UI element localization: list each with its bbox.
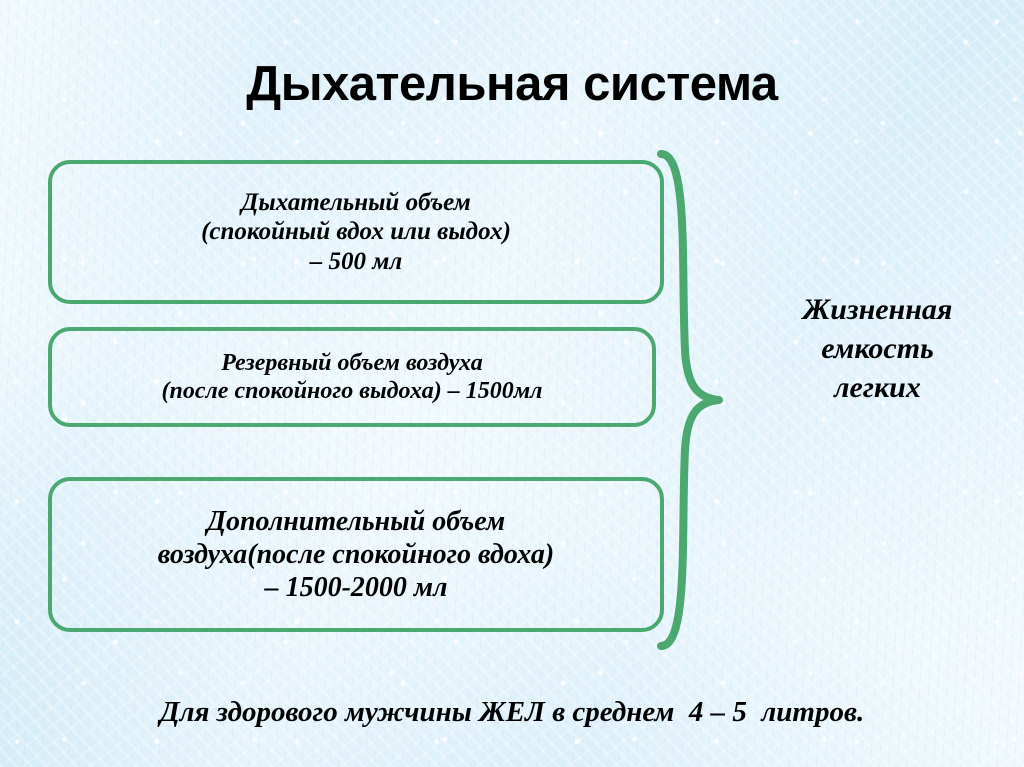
tidal-volume-box: Дыхательный объем (спокойный вдох или вы… — [48, 160, 664, 304]
additional-volume-line-1: Дополнительный объем — [158, 505, 555, 538]
additional-volume-box: Дополнительный объем воздуха(после споко… — [48, 477, 664, 632]
additional-volume-line-3: – 1500-2000 мл — [158, 571, 555, 604]
curly-brace-icon — [655, 150, 725, 650]
tidal-volume-text: Дыхательный объем (спокойный вдох или вы… — [201, 188, 511, 277]
tidal-volume-line-3: – 500 мл — [201, 247, 511, 277]
vital-capacity-line-2: емкость — [745, 329, 1010, 368]
slide-background: Дыхательная система Дыхательный объем (с… — [0, 0, 1024, 767]
additional-volume-text: Дополнительный объем воздуха(после споко… — [158, 505, 555, 604]
reserve-volume-line-1: Резервный объем воздуха — [162, 349, 543, 377]
slide-content: Дыхательная система Дыхательный объем (с… — [0, 0, 1024, 767]
tidal-volume-line-1: Дыхательный объем — [201, 188, 511, 218]
footer-note: Для здорового мужчины ЖЕЛ в среднем 4 – … — [0, 696, 1024, 729]
reserve-volume-text: Резервный объем воздуха (после спокойног… — [162, 349, 543, 406]
vital-capacity-line-3: легких — [745, 368, 1010, 407]
tidal-volume-line-2: (спокойный вдох или выдох) — [201, 217, 511, 247]
additional-volume-line-2: воздуха(после спокойного вдоха) — [158, 538, 555, 571]
reserve-volume-line-2: (после спокойного выдоха) – 1500мл — [162, 377, 543, 405]
reserve-volume-box: Резервный объем воздуха (после спокойног… — [48, 327, 656, 427]
vital-capacity-label: Жизненная емкость легких — [745, 290, 1010, 407]
vital-capacity-line-1: Жизненная — [745, 290, 1010, 329]
page-title: Дыхательная система — [0, 56, 1024, 112]
